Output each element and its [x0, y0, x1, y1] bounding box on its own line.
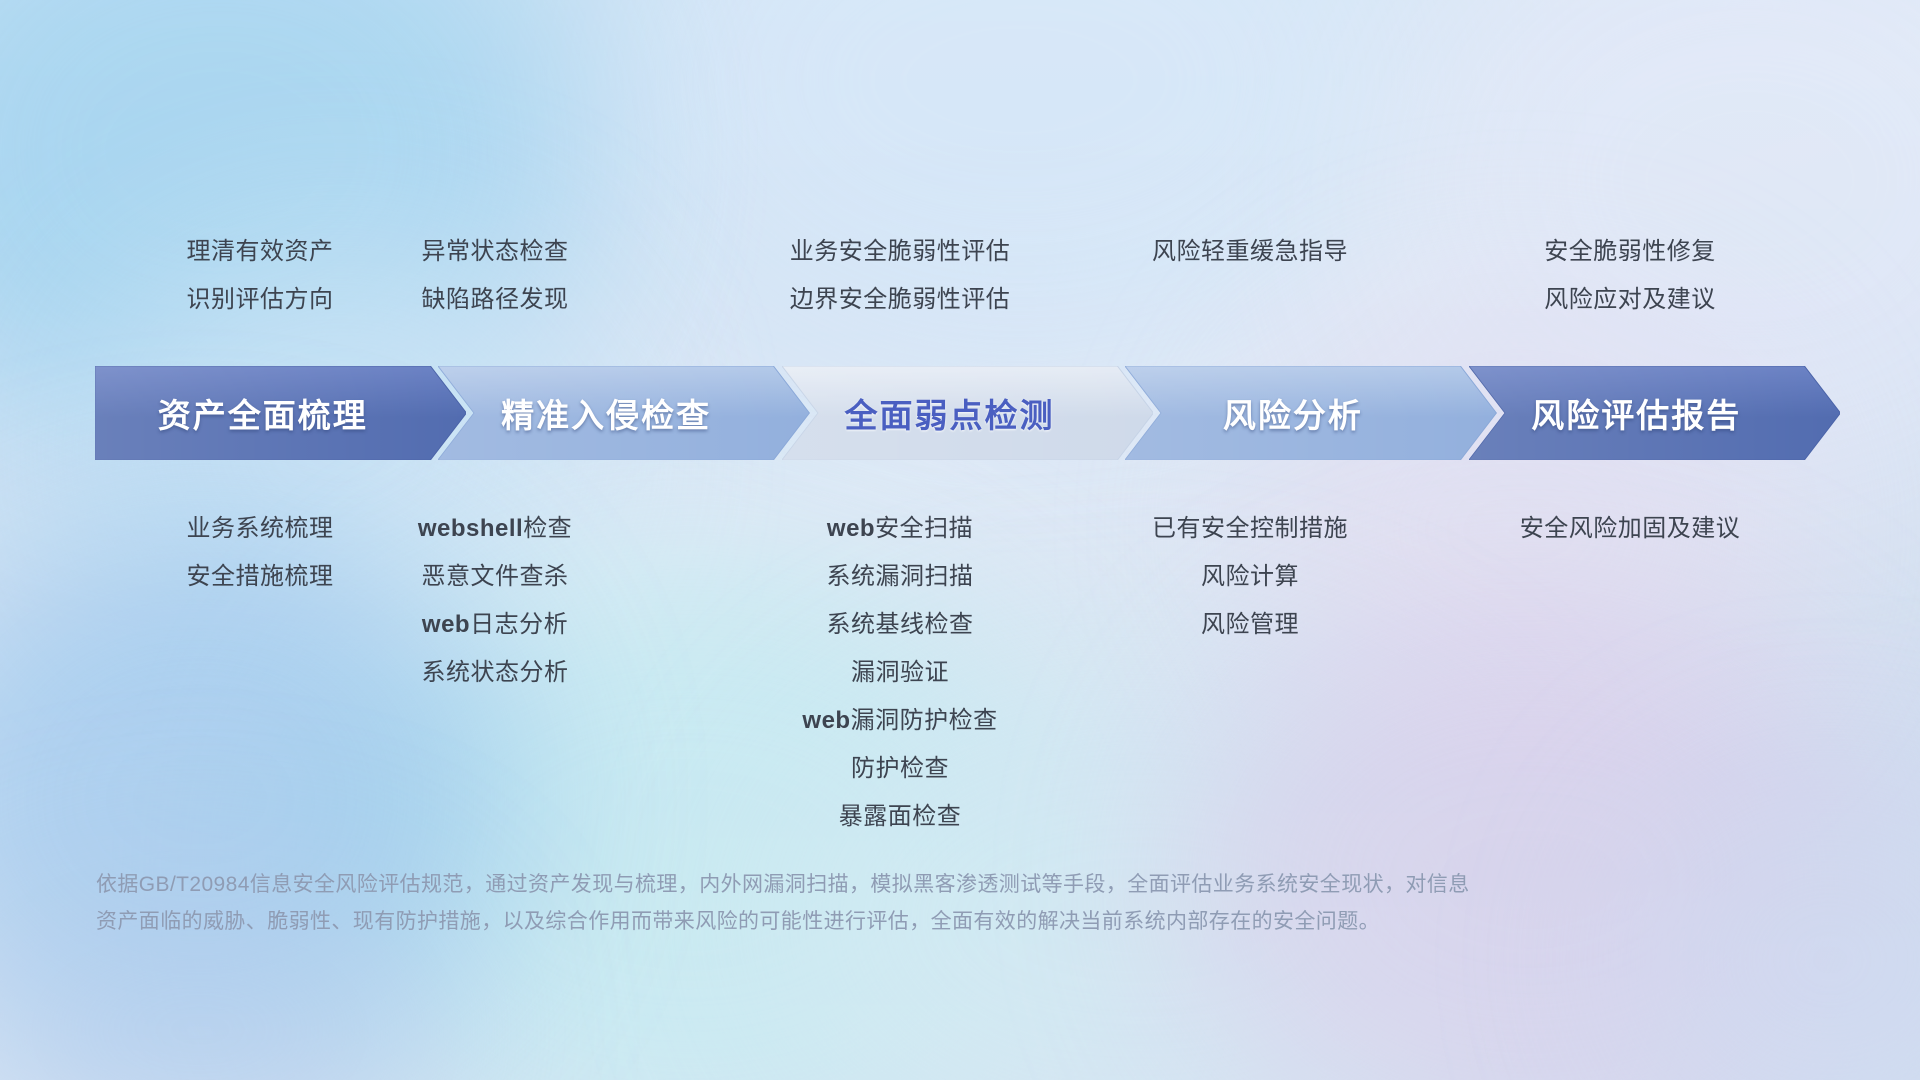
- stage-title: 风险评估报告: [1469, 389, 1840, 437]
- stage-chevron-asset-inventory[interactable]: 资产全面梳理: [95, 366, 466, 460]
- top-item: 风险轻重缓急指导: [1090, 228, 1410, 276]
- bottom-item: 漏洞验证: [700, 649, 1100, 697]
- footer-line-2: 资产面临的威胁、脆弱性、现有防护措施，以及综合作用而带来风险的可能性进行评估，全…: [96, 903, 1636, 940]
- bottom-item-keyword: web: [802, 707, 850, 734]
- top-column-risk-report: 安全脆弱性修复风险应对及建议: [1440, 228, 1820, 324]
- bottom-item-text: 安全扫描: [875, 515, 973, 542]
- bottom-item-text: 检查: [523, 515, 572, 542]
- stage-chevron-risk-report[interactable]: 风险评估报告: [1469, 366, 1840, 460]
- footer-description: 依据GB/T20984信息安全风险评估规范，通过资产发现与梳理，内外网漏洞扫描，…: [96, 866, 1636, 940]
- bottom-item: 安全风险加固及建议: [1440, 505, 1820, 553]
- stage-chevron-weakness-detection[interactable]: 全面弱点检测: [782, 366, 1153, 460]
- bottom-item: 风险计算: [1090, 553, 1410, 601]
- process-diagram: 理清有效资产识别评估方向异常状态检查缺陷路径发现业务安全脆弱性评估边界安全脆弱性…: [0, 0, 1920, 1080]
- stage-title: 精准入侵检查: [438, 389, 809, 437]
- bottom-column-intrusion-check: webshell检查恶意文件查杀web日志分析系统状态分析: [330, 505, 660, 697]
- bottom-item-keyword: web: [827, 515, 875, 542]
- bottom-item-text: 漏洞防护检查: [851, 707, 998, 734]
- bottom-column-risk-analysis: 已有安全控制措施风险计算风险管理: [1090, 505, 1410, 649]
- top-item: 业务安全脆弱性评估: [700, 228, 1100, 276]
- top-column-intrusion-check: 异常状态检查缺陷路径发现: [330, 228, 660, 324]
- bottom-item: webshell检查: [330, 505, 660, 553]
- bottom-item-text: 日志分析: [470, 611, 568, 638]
- bottom-item: 风险管理: [1090, 601, 1410, 649]
- top-item: 缺陷路径发现: [330, 276, 660, 324]
- bottom-item: web漏洞防护检查: [700, 697, 1100, 745]
- bottom-item-keyword: web: [422, 611, 470, 638]
- bottom-item: web日志分析: [330, 601, 660, 649]
- bottom-item-keyword: webshell: [418, 515, 523, 542]
- bottom-item: 系统基线检查: [700, 601, 1100, 649]
- stage-chevron-band: 资产全面梳理 精准入侵检查: [95, 366, 1840, 460]
- top-column-weakness-detection: 业务安全脆弱性评估边界安全脆弱性评估: [700, 228, 1100, 324]
- bottom-item: 已有安全控制措施: [1090, 505, 1410, 553]
- bottom-item: 恶意文件查杀: [330, 553, 660, 601]
- top-item: 边界安全脆弱性评估: [700, 276, 1100, 324]
- stage-chevron-intrusion-check[interactable]: 精准入侵检查: [438, 366, 809, 460]
- bottom-item: 防护检查: [700, 745, 1100, 793]
- bottom-item: 系统漏洞扫描: [700, 553, 1100, 601]
- bottom-column-weakness-detection: web安全扫描系统漏洞扫描系统基线检查漏洞验证web漏洞防护检查防护检查暴露面检…: [700, 505, 1100, 841]
- bottom-item: 暴露面检查: [700, 793, 1100, 841]
- stage-chevron-risk-analysis[interactable]: 风险分析: [1125, 366, 1496, 460]
- footer-line-1: 依据GB/T20984信息安全风险评估规范，通过资产发现与梳理，内外网漏洞扫描，…: [96, 866, 1636, 903]
- bottom-item: 系统状态分析: [330, 649, 660, 697]
- top-item: 安全脆弱性修复: [1440, 228, 1820, 276]
- stage-title: 全面弱点检测: [782, 389, 1153, 437]
- top-column-risk-analysis: 风险轻重缓急指导: [1090, 228, 1410, 276]
- bottom-column-risk-report: 安全风险加固及建议: [1440, 505, 1820, 553]
- stage-title: 风险分析: [1125, 389, 1496, 437]
- bottom-item: web安全扫描: [700, 505, 1100, 553]
- stage-title: 资产全面梳理: [95, 389, 466, 437]
- top-item: 异常状态检查: [330, 228, 660, 276]
- top-item: 风险应对及建议: [1440, 276, 1820, 324]
